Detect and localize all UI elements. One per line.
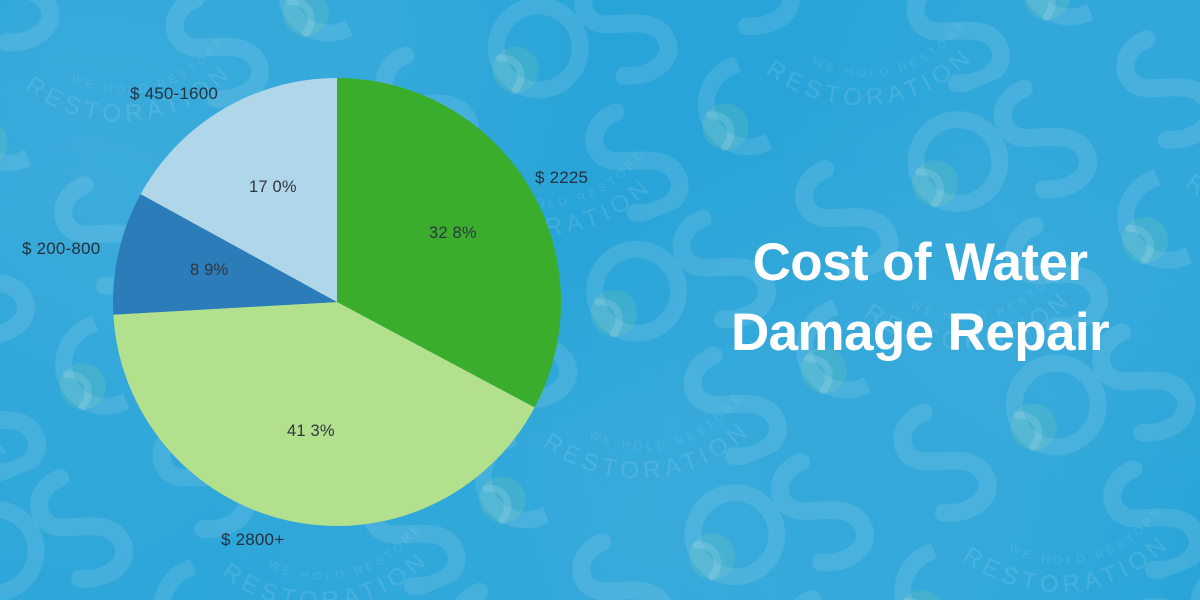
pie-chart: 32 8% 41 3% 8 9% 17 0% $ 2225 $ 2800+ $ … xyxy=(0,0,640,600)
slice-percent-2800plus: 41 3% xyxy=(287,422,335,441)
pie-slice-group xyxy=(113,78,561,526)
slice-label-2225: $ 2225 xyxy=(535,168,588,188)
slice-label-200-800: $ 200-800 xyxy=(22,239,100,259)
page-title-line-1: Cost of Water xyxy=(660,228,1180,298)
page-title: Cost of Water Damage Repair xyxy=(660,228,1180,368)
slice-label-450-1600: $ 450-1600 xyxy=(130,84,218,104)
slice-percent-200-800: 8 9% xyxy=(190,261,228,280)
page-title-line-2: Damage Repair xyxy=(660,298,1180,368)
infographic-canvas: RESTORATION WE HOLD RESTORE 32 8% 41 3% … xyxy=(0,0,1200,600)
slice-percent-2225: 32 8% xyxy=(429,224,477,243)
slice-label-2800plus: $ 2800+ xyxy=(221,530,284,550)
pie-chart-svg xyxy=(0,0,640,600)
slice-percent-450-1600: 17 0% xyxy=(249,178,297,197)
